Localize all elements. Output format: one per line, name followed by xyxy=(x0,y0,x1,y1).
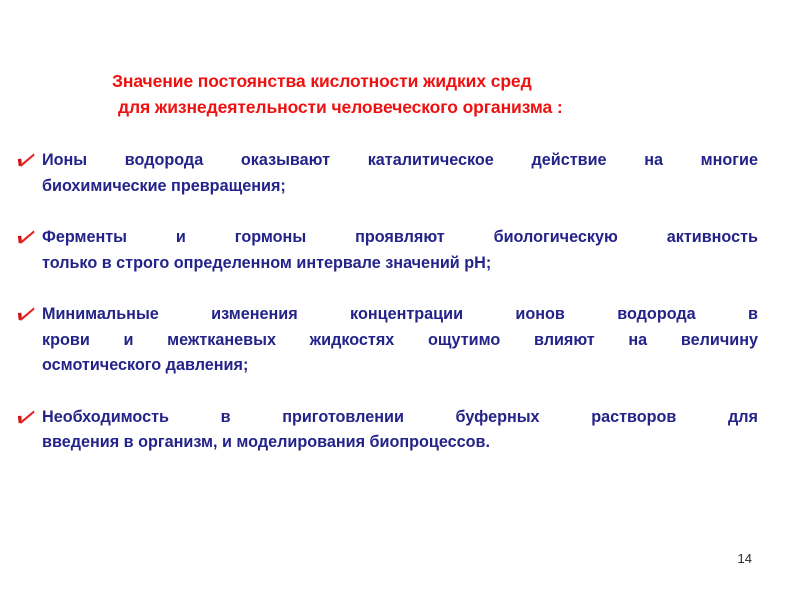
slide-title: Значение постоянства кислотности жидких … xyxy=(112,68,712,120)
list-item-text: Ферменты и гормоны проявляют биологическ… xyxy=(42,225,800,276)
list-item-line: Минимальные изменения концентрации ионов… xyxy=(42,302,758,328)
list-item-line: Ферменты и гормоны проявляют биологическ… xyxy=(42,225,758,251)
list-item: Минимальные изменения концентрации ионов… xyxy=(0,302,800,379)
title-line-1: Значение постоянства кислотности жидких … xyxy=(112,68,712,94)
list-item: Ионы водорода оказывают каталитическое д… xyxy=(0,148,800,199)
bullet-list: Ионы водорода оказывают каталитическое д… xyxy=(0,148,800,482)
list-item-line: введения в организм, и моделирования био… xyxy=(42,430,758,456)
list-item-text: Минимальные изменения концентрации ионов… xyxy=(42,302,800,379)
check-mark-icon xyxy=(0,302,42,323)
page-number: 14 xyxy=(738,551,752,566)
check-mark-icon xyxy=(0,148,42,169)
slide-canvas: Значение постоянства кислотности жидких … xyxy=(0,0,800,600)
list-item: Ферменты и гормоны проявляют биологическ… xyxy=(0,225,800,276)
title-line-2: для жизнедеятельности человеческого орга… xyxy=(112,94,712,120)
list-item-text: Ионы водорода оказывают каталитическое д… xyxy=(42,148,800,199)
check-mark-icon xyxy=(0,405,42,426)
list-item-line: биохимические превращения; xyxy=(42,174,758,200)
list-item-text: Необходимость в приготовлении буферных р… xyxy=(42,405,800,456)
list-item-line: осмотического давления; xyxy=(42,353,758,379)
list-item-line: крови и межтканевых жидкостях ощутимо вл… xyxy=(42,328,758,354)
check-mark-icon xyxy=(0,225,42,246)
list-item-line: Ионы водорода оказывают каталитическое д… xyxy=(42,148,758,174)
list-item-line: только в строго определенном интервале з… xyxy=(42,251,758,277)
list-item-line: Необходимость в приготовлении буферных р… xyxy=(42,405,758,431)
list-item: Необходимость в приготовлении буферных р… xyxy=(0,405,800,456)
